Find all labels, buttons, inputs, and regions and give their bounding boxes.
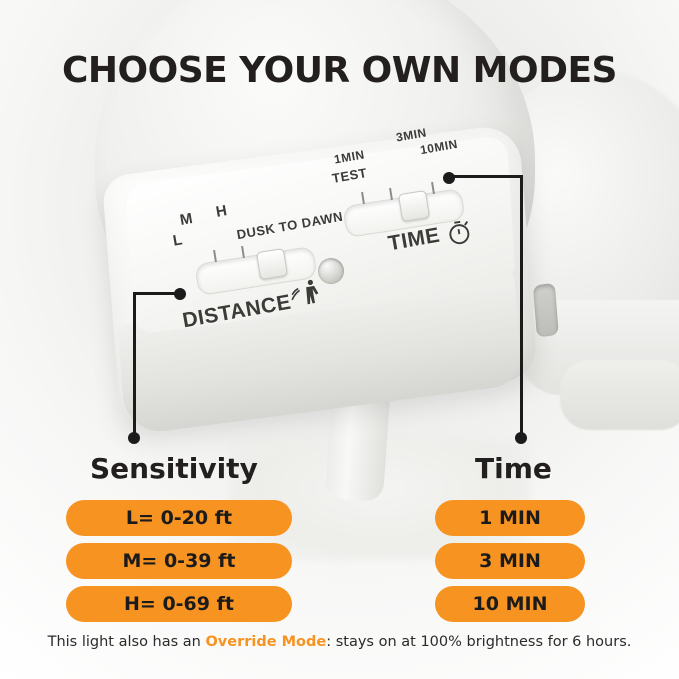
callout-line-time-vertical: [520, 175, 523, 440]
callout-line-time-horizontal: [449, 175, 523, 178]
time-pill-1min: 1 MIN: [435, 500, 585, 536]
callout-dot-time: [515, 432, 527, 444]
distance-slider-knob[interactable]: [256, 248, 288, 280]
lamp-arm-right-lower: [560, 360, 679, 430]
callout-line-distance-vertical: [133, 292, 136, 440]
section-title-sensitivity: Sensitivity: [90, 452, 258, 485]
sensitivity-pill-low: L= 0-20 ft: [66, 500, 292, 536]
callout-dot-time-device: [443, 172, 455, 184]
time-slider-knob[interactable]: [398, 190, 430, 222]
timer-icon: [445, 216, 475, 248]
callout-line-distance-horizontal: [133, 292, 181, 295]
footer-note: This light also has an Override Mode: st…: [0, 634, 679, 650]
section-title-time: Time: [475, 452, 552, 485]
footer-accent: Override Mode: [205, 634, 326, 650]
housing-vent: [533, 283, 559, 338]
page-title: CHOOSE YOUR OWN MODES: [0, 50, 679, 91]
infographic-canvas: DISTANCE TIME DUSK TO DAWN TEST 1MIN 3MI…: [0, 0, 679, 679]
callout-dot-sensitivity: [128, 432, 140, 444]
footer-tail: : stays on at 100% brightness for 6 hour…: [326, 634, 631, 650]
device-label-sensitivity-medium: M: [179, 210, 195, 229]
footer-lead: This light also has an: [48, 634, 206, 650]
sensitivity-pill-medium: M= 0-39 ft: [66, 543, 292, 579]
time-pill-3min: 3 MIN: [435, 543, 585, 579]
time-pill-10min: 10 MIN: [435, 586, 585, 622]
sensitivity-pill-high: H= 0-69 ft: [66, 586, 292, 622]
